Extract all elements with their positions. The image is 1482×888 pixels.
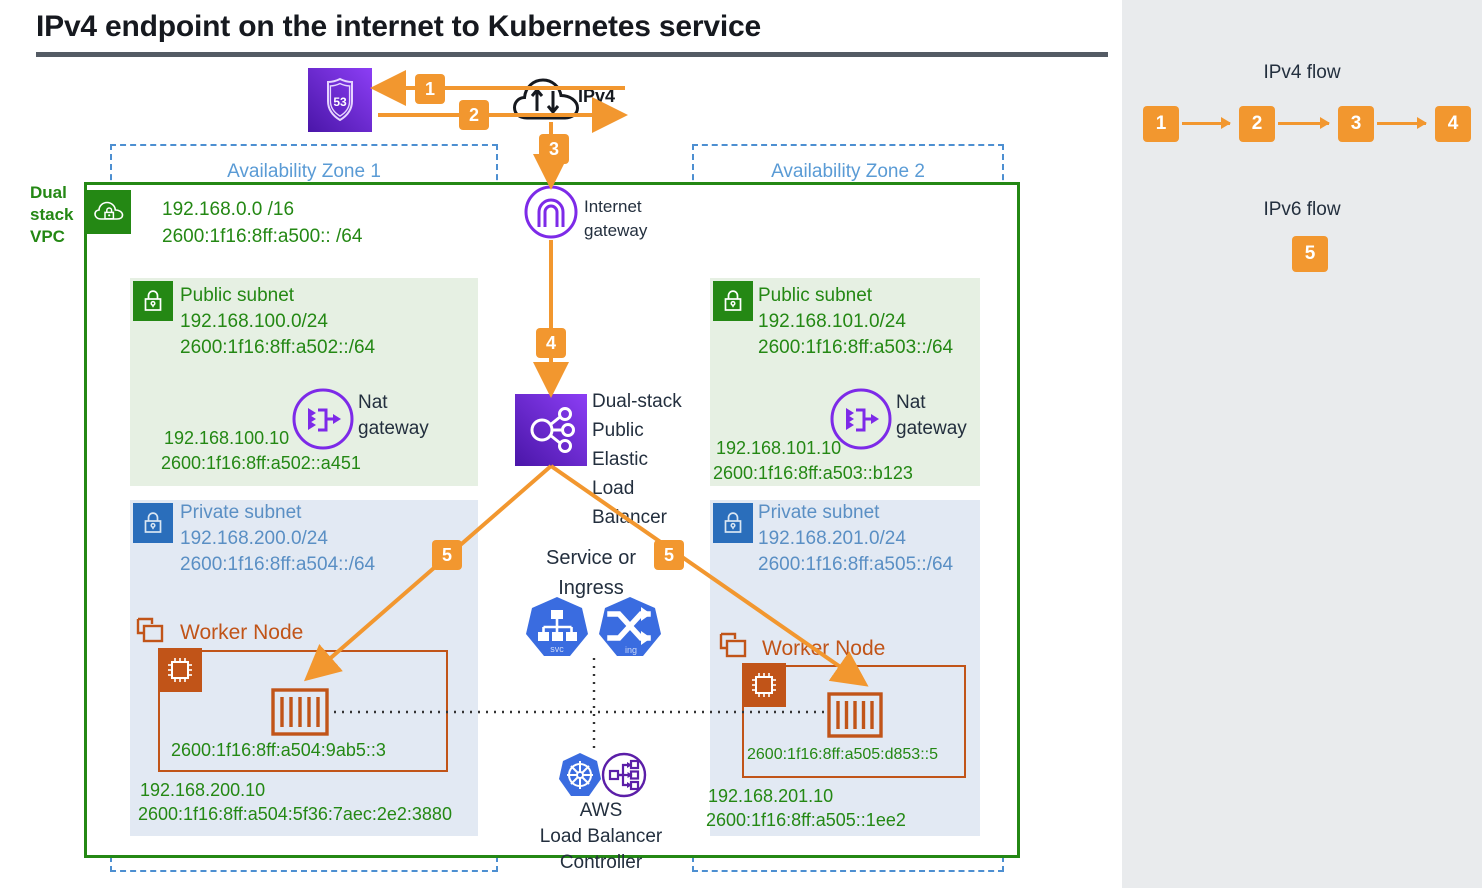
public-subnet-az1-cidr-ipv4: 192.168.100.0/24: [180, 309, 375, 335]
vpc-label-line-3: VPC: [30, 226, 86, 248]
private-subnet-az1-cidr-ipv6: 2600:1f16:8ff:a504::/64: [180, 552, 375, 578]
internet-gateway-label-line-2: gateway: [584, 219, 647, 243]
pod-container-az2-icon: [827, 692, 883, 738]
page-title: IPv4 endpoint on the internet to Kuberne…: [36, 10, 1036, 44]
elb-label-line-2: Public: [592, 416, 688, 445]
public-subnet-az1-cidr-ipv6: 2600:1f16:8ff:a502::/64: [180, 335, 375, 361]
albc-label-line-3: Controller: [506, 850, 696, 876]
legend-arrow-1: [1182, 122, 1230, 125]
elb-label-line-3: Elastic: [592, 445, 688, 474]
nat-gateway-az1-label-line-1: Nat: [358, 390, 429, 416]
private-subnet-az2-heading: Private subnet 192.168.201.0/24 2600:1f1…: [758, 500, 953, 578]
worker-node-az1-chip-icon: [158, 648, 202, 692]
private-subnet-az2-name: Private subnet: [758, 500, 953, 526]
private-subnet-az2-cidr-ipv4: 192.168.201.0/24: [758, 526, 953, 552]
aws-load-balancer-controller-label: AWS Load Balancer Controller: [506, 798, 696, 876]
albc-label-line-1: AWS: [506, 798, 696, 824]
legend-badge-1: 1: [1143, 106, 1179, 142]
worker-node-az2-title: Worker Node: [762, 637, 885, 661]
public-subnet-az2-cidr-ipv4: 192.168.101.0/24: [758, 309, 953, 335]
title-divider: [36, 52, 1108, 57]
private-subnet-az2-cidr-ipv6: 2600:1f16:8ff:a505::/64: [758, 552, 953, 578]
flow-badge-5-az2: 5: [654, 540, 684, 570]
nat-gateway-az1-label-line-2: gateway: [358, 416, 429, 442]
internet-gateway-label-line-1: Internet: [584, 195, 647, 219]
public-subnet-lock-icon: [713, 281, 753, 321]
public-subnet-az2-cidr-ipv6: 2600:1f16:8ff:a503::/64: [758, 335, 953, 361]
private-subnet-az1-name: Private subnet: [180, 500, 375, 526]
elastic-load-balancer-icon: [515, 394, 587, 466]
worker-node-az2-stack-icon: [720, 633, 756, 663]
nat-gateway-az1-ipv4: 192.168.100.10: [164, 426, 289, 451]
public-subnet-az2-name: Public subnet: [758, 283, 953, 309]
legend-ipv4-title: IPv4 flow: [1122, 62, 1482, 84]
availability-zone-1-label: Availability Zone 1: [110, 161, 498, 183]
k8s-ingress-icon: ing: [597, 596, 663, 658]
elb-label-line-1: Dual-stack: [592, 387, 688, 416]
svg-text:53: 53: [333, 95, 347, 109]
pod-container-az1-icon: [271, 688, 329, 736]
availability-zone-2-label: Availability Zone 2: [692, 161, 1004, 183]
svg-text:svc: svc: [550, 644, 564, 654]
private-subnet-az1-cidr-ipv4: 192.168.200.0/24: [180, 526, 375, 552]
pod-az2-ipv6: 2600:1f16:8ff:a505:d853::5: [747, 746, 938, 764]
nat-gateway-az2-label-line-2: gateway: [896, 416, 967, 442]
public-subnet-az2-heading: Public subnet 192.168.101.0/24 2600:1f16…: [758, 283, 953, 361]
vpc-cloud-lock-icon: [87, 190, 131, 234]
nat-gateway-az2-ipv6: 2600:1f16:8ff:a503::b123: [713, 461, 913, 486]
flow-badge-5-az1: 5: [432, 540, 462, 570]
elastic-load-balancer-label: Dual-stack Public Elastic Load Balancer: [592, 387, 688, 532]
legend-badge-3: 3: [1338, 106, 1374, 142]
private-subnet-lock-icon: [713, 503, 753, 543]
svg-text:ing: ing: [625, 645, 637, 655]
vpc-label-line-2: stack: [30, 204, 86, 226]
legend-ipv6-title: IPv6 flow: [1122, 199, 1482, 221]
worker-node-az1-ipv4: 192.168.200.10: [140, 778, 265, 803]
flow-badge-3: 3: [539, 134, 569, 164]
elb-label-line-5: Balancer: [592, 503, 688, 532]
k8s-service-icon: svc: [524, 596, 590, 658]
nat-gateway-az2-label-line-1: Nat: [896, 390, 967, 416]
vpc-cidr-block: 192.168.0.0 /16 2600:1f16:8ff:a500:: /64: [162, 196, 362, 250]
diagram-canvas: IPv4 endpoint on the internet to Kuberne…: [0, 0, 1482, 888]
internet-cloud-icon: [513, 74, 577, 122]
internet-gateway-label: Internet gateway: [584, 195, 647, 243]
nat-gateway-az2-label: Nat gateway: [896, 390, 967, 442]
internet-gateway-icon: [524, 185, 578, 239]
private-subnet-az1-heading: Private subnet 192.168.200.0/24 2600:1f1…: [180, 500, 375, 578]
pod-az1-ipv6: 2600:1f16:8ff:a504:9ab5::3: [171, 740, 386, 761]
vpc-label-line-1: Dual: [30, 182, 86, 204]
worker-node-az1-ipv6: 2600:1f16:8ff:a504:5f36:7aec:2e2:3880: [138, 802, 452, 827]
flow-badge-1: 1: [415, 74, 445, 104]
legend-badge-2: 2: [1239, 106, 1275, 142]
legend-arrow-3: [1377, 122, 1426, 125]
albc-label-line-2: Load Balancer: [506, 824, 696, 850]
legend-arrow-2: [1278, 122, 1329, 125]
route53-icon: 53: [308, 68, 372, 132]
worker-node-az2-chip-icon: [742, 663, 786, 707]
worker-node-az1-title: Worker Node: [180, 621, 303, 645]
vpc-cidr-ipv6: 2600:1f16:8ff:a500:: /64: [162, 223, 362, 250]
public-subnet-az1-name: Public subnet: [180, 283, 375, 309]
public-subnet-lock-icon: [133, 281, 173, 321]
nat-gateway-az1-label: Nat gateway: [358, 390, 429, 442]
aws-controller-icon: [601, 752, 647, 798]
public-subnet-az1-heading: Public subnet 192.168.100.0/24 2600:1f16…: [180, 283, 375, 361]
worker-node-az1-stack-icon: [137, 618, 173, 648]
legend-badge-5: 5: [1292, 236, 1328, 272]
private-subnet-lock-icon: [133, 503, 173, 543]
kubernetes-helm-icon: [557, 752, 603, 798]
internet-cloud-label: IPv4: [578, 86, 615, 107]
vpc-label: Dual stack VPC: [30, 182, 86, 248]
legend-badge-4: 4: [1435, 106, 1471, 142]
worker-node-az2-ipv6: 2600:1f16:8ff:a505::1ee2: [706, 808, 906, 833]
nat-gateway-az1-ipv6: 2600:1f16:8ff:a502::a451: [161, 451, 361, 476]
flow-badge-4: 4: [536, 328, 566, 358]
elb-label-line-4: Load: [592, 474, 688, 503]
flow-badge-2: 2: [459, 100, 489, 130]
worker-node-az2-ipv4: 192.168.201.10: [708, 784, 833, 809]
vpc-cidr-ipv4: 192.168.0.0 /16: [162, 196, 362, 223]
nat-gateway-az1-icon: [292, 388, 354, 450]
nat-gateway-az2-ipv4: 192.168.101.10: [716, 436, 841, 461]
